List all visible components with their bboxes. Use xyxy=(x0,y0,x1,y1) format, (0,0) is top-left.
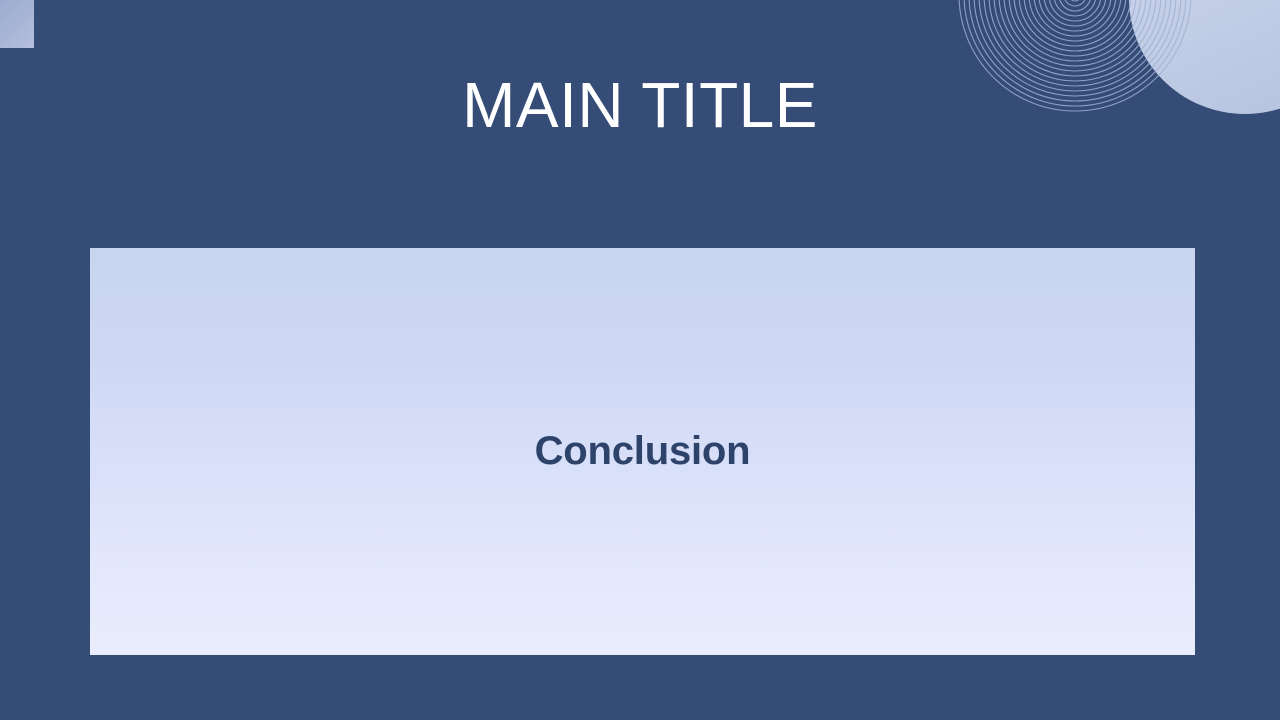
content-panel: Conclusion xyxy=(90,248,1195,655)
title-area: MAIN TITLE xyxy=(0,72,1280,139)
content-heading: Conclusion xyxy=(535,429,751,474)
page-title: MAIN TITLE xyxy=(462,72,818,139)
corner-rectangle-shape xyxy=(0,0,34,48)
slide-canvas: MAIN TITLE Conclusion xyxy=(0,0,1280,720)
